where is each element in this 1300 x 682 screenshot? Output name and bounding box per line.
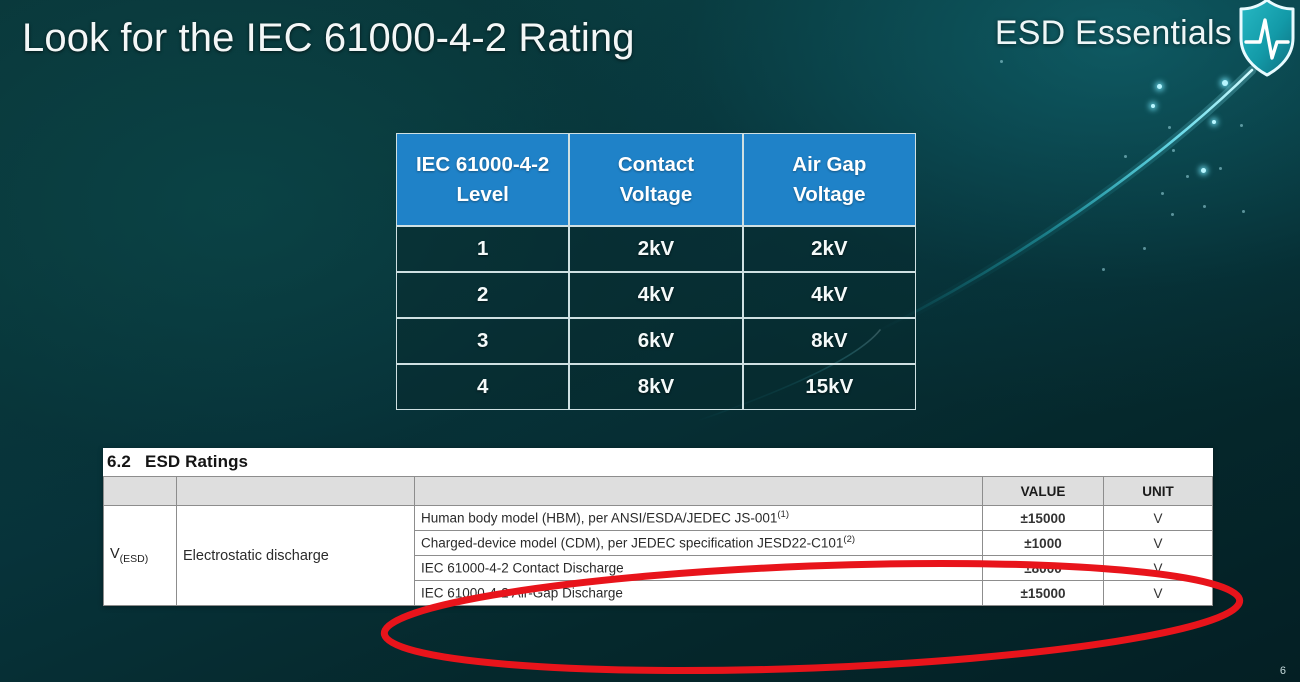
esd-value-cell: ±8000 xyxy=(983,556,1104,581)
esd-ratings-table: VALUE UNIT V(ESD) Electrostatic discharg… xyxy=(103,476,1213,606)
iec-header-airgap: Air Gap Voltage xyxy=(743,133,916,226)
datasheet-section-heading: 6.2ESD Ratings xyxy=(103,448,1213,476)
esd-unit-cell: V xyxy=(1104,506,1213,531)
datasheet-header-symbol xyxy=(104,477,177,506)
table-row: 4 8kV 15kV xyxy=(396,364,916,410)
iec-level-table: IEC 61000-4-2 Level Contact Voltage Air … xyxy=(396,133,916,410)
datasheet-clipping: 6.2ESD Ratings VALUE UNIT V(ESD) Electro… xyxy=(103,448,1213,606)
iec-cell-contact: 4kV xyxy=(569,272,742,318)
slide-canvas: Look for the IEC 61000-4-2 Rating ESD Es… xyxy=(0,0,1300,682)
iec-cell-contact: 8kV xyxy=(569,364,742,410)
esd-description-cell: IEC 61000-4-2 Air-Gap Discharge xyxy=(415,581,983,606)
iec-header-level-line2: Level xyxy=(456,183,508,206)
esd-symbol-subscript: (ESD) xyxy=(120,553,149,565)
iec-cell-level: 4 xyxy=(396,364,569,410)
esd-description-cell: Charged-device model (CDM), per JEDEC sp… xyxy=(415,531,983,556)
esd-description-text: IEC 61000-4-2 Contact Discharge xyxy=(421,561,624,576)
esd-footnote-marker: (2) xyxy=(843,534,855,545)
datasheet-header-description xyxy=(415,477,983,506)
esd-description-cell: Human body model (HBM), per ANSI/ESDA/JE… xyxy=(415,506,983,531)
iec-cell-contact: 2kV xyxy=(569,226,742,272)
iec-cell-airgap: 2kV xyxy=(743,226,916,272)
section-number: 6.2 xyxy=(107,452,145,472)
iec-header-level: IEC 61000-4-2 Level xyxy=(396,133,569,226)
esd-symbol-cell: V(ESD) xyxy=(104,506,177,606)
iec-cell-airgap: 15kV xyxy=(743,364,916,410)
esd-unit-cell: V xyxy=(1104,531,1213,556)
esd-value-cell: ±15000 xyxy=(983,506,1104,531)
iec-cell-contact: 6kV xyxy=(569,318,742,364)
iec-header-contact: Contact Voltage xyxy=(569,133,742,226)
iec-header-level-line1: IEC 61000-4-2 xyxy=(416,153,549,176)
iec-header-contact-line1: Contact xyxy=(618,153,694,176)
datasheet-header-row: VALUE UNIT xyxy=(104,477,1213,506)
esd-value-cell: ±1000 xyxy=(983,531,1104,556)
section-title: ESD Ratings xyxy=(145,452,248,471)
esd-symbol: V xyxy=(110,546,120,562)
iec-table-header-row: IEC 61000-4-2 Level Contact Voltage Air … xyxy=(396,133,916,226)
datasheet-header-unit: UNIT xyxy=(1104,477,1213,506)
iec-cell-airgap: 4kV xyxy=(743,272,916,318)
esd-unit-cell: V xyxy=(1104,556,1213,581)
iec-cell-airgap: 8kV xyxy=(743,318,916,364)
table-row: 3 6kV 8kV xyxy=(396,318,916,364)
page-number: 6 xyxy=(1280,665,1286,677)
iec-cell-level: 3 xyxy=(396,318,569,364)
esd-value-cell: ±15000 xyxy=(983,581,1104,606)
iec-header-airgap-line1: Air Gap xyxy=(792,153,866,176)
esd-parameter-cell: Electrostatic discharge xyxy=(177,506,415,606)
iec-header-contact-line2: Voltage xyxy=(620,183,693,206)
brand-title: ESD Essentials xyxy=(995,14,1232,53)
datasheet-header-value: VALUE xyxy=(983,477,1104,506)
slide-title: Look for the IEC 61000-4-2 Rating xyxy=(22,16,635,61)
table-row: 1 2kV 2kV xyxy=(396,226,916,272)
iec-header-airgap-line2: Voltage xyxy=(793,183,866,206)
table-row: V(ESD) Electrostatic discharge Human bod… xyxy=(104,506,1213,531)
esd-unit-cell: V xyxy=(1104,581,1213,606)
iec-cell-level: 1 xyxy=(396,226,569,272)
shield-pulse-icon xyxy=(1236,0,1298,78)
table-row: 2 4kV 4kV xyxy=(396,272,916,318)
esd-description-cell: IEC 61000-4-2 Contact Discharge xyxy=(415,556,983,581)
esd-description-text: IEC 61000-4-2 Air-Gap Discharge xyxy=(421,586,623,601)
esd-description-text: Human body model (HBM), per ANSI/ESDA/JE… xyxy=(421,511,777,526)
esd-description-text: Charged-device model (CDM), per JEDEC sp… xyxy=(421,536,843,551)
iec-cell-level: 2 xyxy=(396,272,569,318)
esd-footnote-marker: (1) xyxy=(777,509,789,520)
datasheet-header-parameter xyxy=(177,477,415,506)
